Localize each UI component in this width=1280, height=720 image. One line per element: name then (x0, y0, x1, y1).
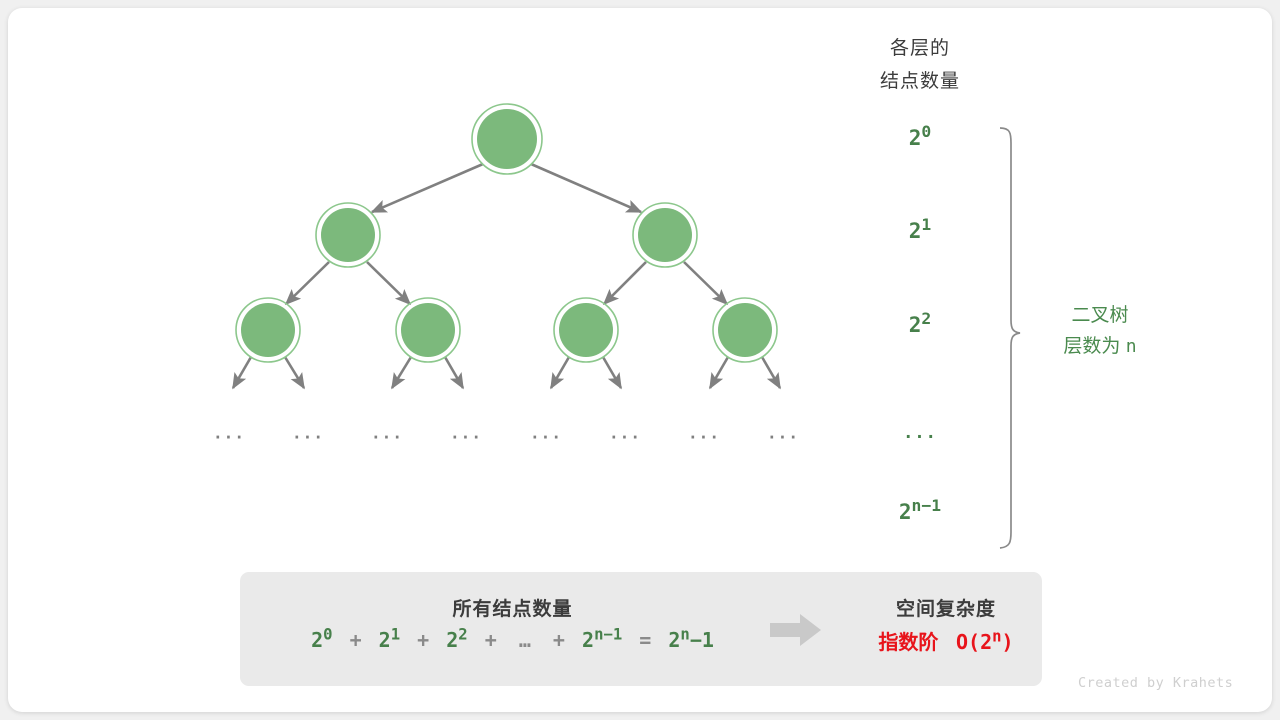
level-count-n: 2n−1 (845, 500, 995, 524)
diagram-card: 各层的 结点数量 20 21 22 ... 2n−1 二叉树 层数为 (8, 8, 1272, 712)
credit-text: Created by Krahets (1078, 675, 1233, 691)
brace-annotation-line2: 层数为 n (1020, 331, 1180, 362)
level-count-0-base: 2 (909, 126, 922, 150)
page-background: 各层的 结点数量 20 21 22 ... 2n−1 二叉树 层数为 (0, 0, 1280, 720)
right-arrow-icon (770, 613, 822, 647)
tree-node-l2-c (554, 298, 618, 362)
tree-node-l2-b (396, 298, 460, 362)
tree-node-l2-d (713, 298, 777, 362)
level-count-1: 21 (845, 219, 995, 243)
column-header: 各层的 结点数量 (845, 32, 995, 98)
brace-annotation: 二叉树 层数为 n (1020, 300, 1180, 362)
summary-right: 空间复杂度 指数阶 O(2n) (850, 572, 1042, 686)
level-count-ellipsis: ... (845, 423, 995, 443)
formula-op-4: + (548, 628, 570, 652)
tree-ellipsis-6: ... (609, 424, 641, 443)
level-span-brace (1000, 128, 1020, 548)
brace-annotation-line1: 二叉树 (1020, 300, 1180, 331)
brace-annotation-prefix: 层数为 (1063, 336, 1120, 357)
diagram-stage: 各层的 结点数量 20 21 22 ... 2n−1 二叉树 层数为 (8, 8, 1272, 712)
tree-node-root (472, 104, 542, 174)
formula-op-3: + (480, 628, 502, 652)
summary-left: 所有结点数量 20 + 21 + 22 + … + 2n−1 = 2n−1 (240, 572, 785, 686)
level-count-1-base: 2 (909, 219, 922, 243)
formula-op-2: + (412, 628, 434, 652)
summary-left-title: 所有结点数量 (240, 594, 785, 621)
brace-annotation-variable: n (1126, 336, 1137, 357)
summary-right-title: 空间复杂度 (850, 594, 1042, 621)
formula-term-2: 21 (379, 628, 400, 652)
formula-ellipsis: … (514, 628, 536, 652)
level-count-n-base: 2 (899, 500, 912, 524)
formula-op-1: + (345, 628, 367, 652)
tree-ellipsis-3: ... (371, 424, 403, 443)
formula-result: 2n−1 (668, 628, 714, 652)
tree-ellipsis-4: ... (450, 424, 482, 443)
tree-node-l1-left (316, 203, 380, 267)
column-header-line2: 结点数量 (845, 65, 995, 98)
tree-nodes (236, 104, 777, 362)
formula-term-3: 22 (446, 628, 467, 652)
tree-ellipsis-7: ... (688, 424, 720, 443)
level-count-0: 20 (845, 126, 995, 150)
level-count-2: 22 (845, 313, 995, 337)
summary-panel: 所有结点数量 20 + 21 + 22 + … + 2n−1 = 2n−1 (240, 572, 1042, 686)
level-count-0-exponent: 0 (921, 122, 931, 141)
level-count-1-exponent: 1 (921, 215, 931, 234)
tree-ellipsis-8: ... (767, 424, 799, 443)
level-count-2-base: 2 (909, 313, 922, 337)
tree-ellipsis-2: ... (292, 424, 324, 443)
formula-equals: = (634, 628, 656, 652)
complexity-prefix: 指数阶 (878, 632, 938, 654)
formula-term-1: 20 (311, 628, 332, 652)
tree-edges (233, 164, 780, 388)
tree-node-l2-a (236, 298, 300, 362)
column-header-line1: 各层的 (845, 32, 995, 65)
summary-complexity: 指数阶 O(2n) (850, 626, 1042, 655)
tree-ellipsis-5: ... (530, 424, 562, 443)
level-count-n-exponent: n−1 (912, 496, 942, 515)
formula-term-4: 2n−1 (582, 628, 622, 652)
summary-formula: 20 + 21 + 22 + … + 2n−1 = 2n−1 (240, 628, 785, 652)
tree-ellipsis-1: ... (213, 424, 245, 443)
level-count-2-exponent: 2 (921, 309, 931, 328)
tree-node-l1-right (633, 203, 697, 267)
complexity-notation: O(2n) (944, 630, 1014, 654)
